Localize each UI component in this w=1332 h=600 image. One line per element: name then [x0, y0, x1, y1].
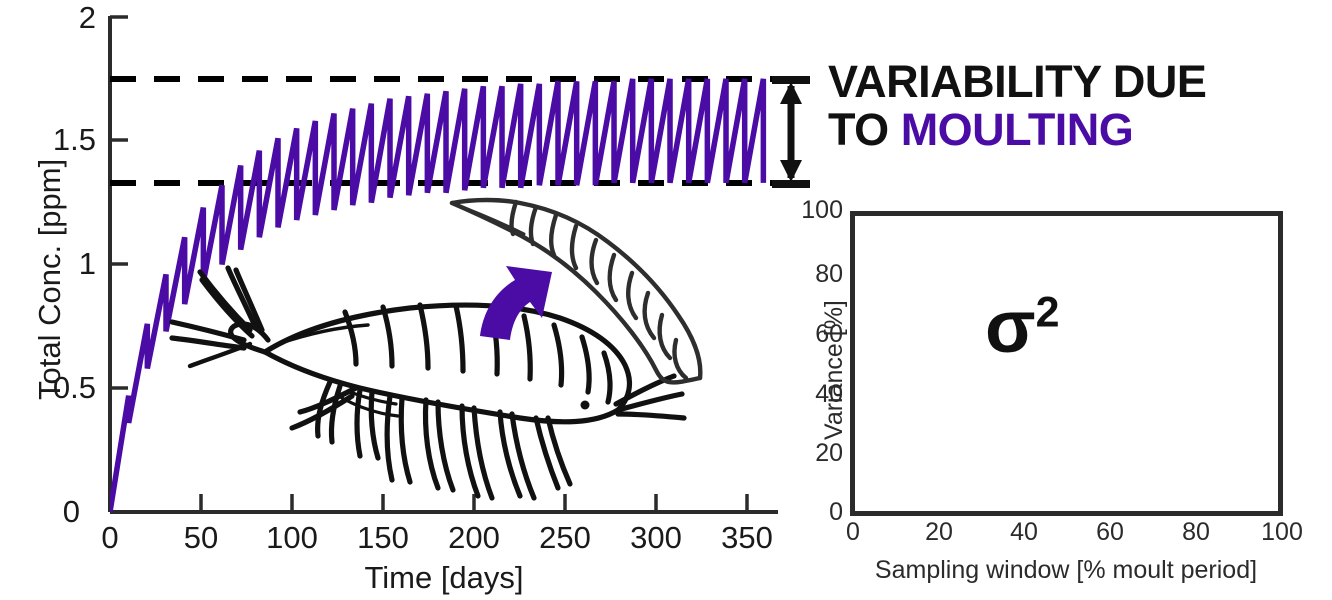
main-xtick-50: 50 — [184, 522, 218, 553]
moulted-exoskeleton-line-drawing — [452, 200, 700, 382]
variance-symbol-annotation: σ2 — [985, 290, 1060, 364]
inset-plot-frame — [850, 211, 1283, 516]
variability-range-arrow — [772, 80, 810, 184]
main-xtick-300: 300 — [630, 522, 682, 553]
inset-xtick-20: 20 — [925, 520, 953, 545]
main-axes — [110, 16, 778, 512]
inset-x-axis-title: Sampling window [% moult period] — [875, 558, 1257, 583]
main-xtick-0: 0 — [101, 522, 118, 553]
inset-xtick-0: 0 — [846, 520, 860, 545]
main-ytick-0: 0 — [63, 496, 80, 527]
inset-ytick-20: 20 — [815, 441, 843, 466]
inset-ytick-80: 80 — [815, 262, 843, 287]
main-ytick-1p5: 1.5 — [53, 124, 96, 155]
main-x-axis-title: Time [days] — [364, 562, 523, 593]
main-ytick-2: 2 — [79, 2, 96, 33]
inset-ytick-100: 100 — [801, 198, 843, 223]
sigma-exponent: 2 — [1036, 288, 1060, 336]
main-xtick-250: 250 — [539, 522, 591, 553]
inset-xtick-80: 80 — [1182, 520, 1210, 545]
main-xtick-100: 100 — [266, 522, 318, 553]
sigma-symbol: σ — [985, 285, 1036, 368]
main-ytick-1: 1 — [79, 248, 96, 279]
variability-callout: VARIABILITY DUE TO MOULTING — [828, 58, 1206, 153]
main-x-ticks — [110, 494, 747, 512]
figure-root: 0 0.5 1 1.5 2 0 50 100 150 200 250 300 3… — [0, 0, 1332, 600]
inset-xtick-100: 100 — [1261, 520, 1303, 545]
inset-xtick-40: 40 — [1010, 520, 1038, 545]
callout-line-2-accent: MOULTING — [901, 104, 1134, 155]
main-xtick-350: 350 — [721, 522, 773, 553]
inset-y-axis-title: Variance [%] — [822, 300, 847, 440]
main-y-ticks — [110, 17, 128, 512]
main-xtick-150: 150 — [357, 522, 409, 553]
callout-line-1: VARIABILITY DUE — [828, 58, 1206, 106]
inset-ytick-0: 0 — [829, 500, 843, 525]
main-y-axis-title: Total Conc. [ppm] — [34, 159, 65, 400]
callout-line-2-plain: TO — [828, 104, 901, 155]
inset-xtick-60: 60 — [1096, 520, 1124, 545]
callout-line-2: TO MOULTING — [828, 106, 1206, 154]
main-xtick-200: 200 — [448, 522, 500, 553]
moulting-arrow — [480, 266, 552, 340]
